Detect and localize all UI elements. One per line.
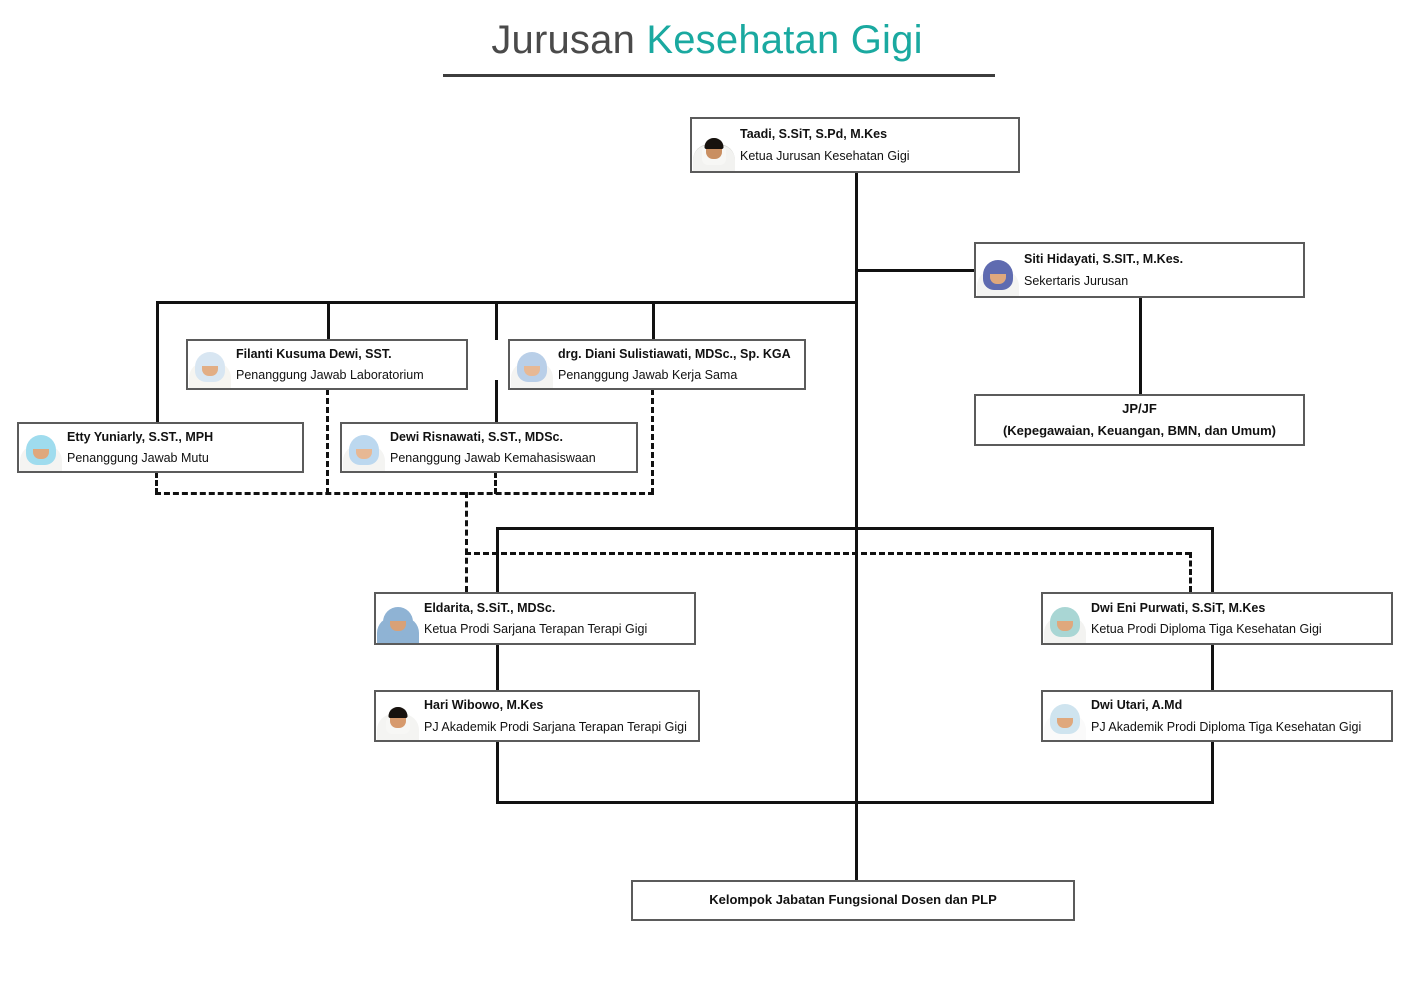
avatar: [376, 692, 420, 740]
dashed-pj-collection-bar: [155, 492, 654, 495]
connector-bar-to-pj-mutu: [156, 301, 159, 435]
node-name: Eldarita, S.SiT., MDSc.: [424, 599, 686, 617]
avatar: [342, 424, 386, 471]
connector-bottom-return-bar: [496, 801, 1214, 804]
dashed-pj-to-prodi: [465, 492, 468, 592]
node-text: drg. Diani Sulistiawati, MDSc., Sp. KGA …: [554, 345, 804, 384]
node-pj-laboratorium[interactable]: Filanti Kusuma Dewi, SST. Penanggung Jaw…: [186, 339, 468, 390]
node-name: Kelompok Jabatan Fungsional Dosen dan PL…: [633, 891, 1073, 910]
portrait-icon: [510, 341, 554, 388]
node-name: Etty Yuniarly, S.ST., MPH: [67, 428, 294, 446]
node-pj-akademik-diploma-tiga[interactable]: Dwi Utari, A.Md PJ Akademik Prodi Diplom…: [1041, 690, 1393, 742]
avatar: [692, 119, 736, 171]
portrait-icon: [342, 424, 386, 471]
node-role: Penanggung Jawab Mutu: [67, 449, 294, 467]
node-name: Dwi Eni Purwati, S.SiT, M.Kes: [1091, 599, 1383, 617]
connector-kaprodi-diploma-to-pj-akademik: [1211, 645, 1214, 690]
node-role: Ketua Jurusan Kesehatan Gigi: [740, 147, 1010, 165]
dashed-pj-mutu-down: [155, 472, 158, 494]
node-role: Ketua Prodi Sarjana Terapan Terapi Gigi: [424, 620, 686, 638]
portrait-icon: [976, 244, 1020, 296]
portrait-icon: [376, 594, 420, 643]
portrait-icon: [19, 424, 63, 471]
node-role: PJ Akademik Prodi Sarjana Terapan Terapi…: [424, 718, 690, 736]
connector-bar-to-pj-kerjasama: [652, 301, 655, 340]
node-text: Hari Wibowo, M.Kes PJ Akademik Prodi Sar…: [420, 696, 698, 735]
connector-bar-to-pj-laboratorium: [327, 301, 330, 340]
node-kaprodi-sarjana-terapan[interactable]: Eldarita, S.SiT., MDSc. Ketua Prodi Sarj…: [374, 592, 696, 645]
portrait-icon: [692, 119, 736, 171]
portrait-icon: [188, 341, 232, 388]
node-name: Dewi Risnawati, S.ST., MDSc.: [390, 428, 628, 446]
node-text: Dewi Risnawati, S.ST., MDSc. Penanggung …: [386, 428, 636, 467]
node-role: Penanggung Jawab Kemahasiswaan: [390, 449, 628, 467]
connector-sekertaris-to-jpjf: [1139, 298, 1142, 394]
connector-bar-to-kaprodi-diploma: [1211, 527, 1214, 592]
dashed-pj-laboratorium-down: [326, 389, 329, 494]
node-sekertaris-jurusan[interactable]: Siti Hidayati, S.SIT., M.Kes. Sekertaris…: [974, 242, 1305, 298]
node-kelompok-jabatan-fungsional[interactable]: Kelompok Jabatan Fungsional Dosen dan PL…: [631, 880, 1075, 921]
node-text: Dwi Utari, A.Md PJ Akademik Prodi Diplom…: [1087, 696, 1391, 735]
page-title: Jurusan Kesehatan Gigi: [0, 18, 1414, 63]
org-chart-canvas: Jurusan Kesehatan Gigi: [0, 0, 1414, 982]
portrait-icon: [376, 692, 420, 740]
node-role: (Kepegawaian, Keuangan, BMN, dan Umum): [976, 422, 1303, 441]
dashed-pj-kemahasiswaan-down: [494, 472, 497, 494]
node-text: Etty Yuniarly, S.ST., MPH Penanggung Jaw…: [63, 428, 302, 467]
node-pj-akademik-sarjana-terapan[interactable]: Hari Wibowo, M.Kes PJ Akademik Prodi Sar…: [374, 690, 700, 742]
connector-bar-to-pj-kerjasama-left: [495, 301, 498, 340]
node-name: Filanti Kusuma Dewi, SST.: [236, 345, 458, 363]
connector-to-sekertaris: [855, 269, 975, 272]
connector-pj-distribution-bar: [156, 301, 858, 304]
node-role: PJ Akademik Prodi Diploma Tiga Kesehatan…: [1091, 718, 1383, 736]
node-text: Eldarita, S.SiT., MDSc. Ketua Prodi Sarj…: [420, 599, 694, 638]
avatar: [1043, 594, 1087, 643]
node-text: JP/JF (Kepegawaian, Keuangan, BMN, dan U…: [976, 400, 1303, 441]
node-text: Siti Hidayati, S.SIT., M.Kes. Sekertaris…: [1020, 250, 1303, 289]
portrait-icon: [1043, 594, 1087, 643]
page-title-part1: Jurusan: [491, 18, 646, 62]
node-name: Taadi, S.SiT, S.Pd, M.Kes: [740, 125, 1010, 143]
node-ketua-jurusan[interactable]: Taadi, S.SiT, S.Pd, M.Kes Ketua Jurusan …: [690, 117, 1020, 173]
avatar: [976, 244, 1020, 296]
connector-bar-to-kaprodi-sarjana: [496, 527, 499, 592]
node-name: drg. Diani Sulistiawati, MDSc., Sp. KGA: [558, 345, 796, 363]
connector-pj-akademik-sarjana-down: [496, 742, 499, 804]
page-title-part2: Kesehatan Gigi: [646, 18, 922, 62]
node-name: Siti Hidayati, S.SIT., M.Kes.: [1024, 250, 1295, 268]
avatar: [19, 424, 63, 471]
dashed-to-kaprodi-diploma: [1189, 552, 1192, 592]
connector-prodi-distribution-bar: [496, 527, 1214, 530]
dashed-pj-kerjasama-down: [651, 389, 654, 494]
node-name: JP/JF: [976, 400, 1303, 419]
node-role: Penanggung Jawab Laboratorium: [236, 366, 458, 384]
avatar: [1043, 692, 1087, 740]
node-name: Dwi Utari, A.Md: [1091, 696, 1383, 714]
node-name: Hari Wibowo, M.Kes: [424, 696, 690, 714]
node-text: Dwi Eni Purwati, S.SiT, M.Kes Ketua Prod…: [1087, 599, 1391, 638]
title-underline: [443, 74, 995, 77]
node-text: Kelompok Jabatan Fungsional Dosen dan PL…: [633, 891, 1073, 910]
node-pj-mutu[interactable]: Etty Yuniarly, S.ST., MPH Penanggung Jaw…: [17, 422, 304, 473]
avatar: [376, 594, 420, 643]
connector-kaprodi-sarjana-to-pj-akademik: [496, 645, 499, 690]
node-jp-jf[interactable]: JP/JF (Kepegawaian, Keuangan, BMN, dan U…: [974, 394, 1305, 446]
node-kaprodi-diploma-tiga[interactable]: Dwi Eni Purwati, S.SiT, M.Kes Ketua Prod…: [1041, 592, 1393, 645]
portrait-icon: [1043, 692, 1087, 740]
avatar: [510, 341, 554, 388]
connector-pj-akademik-diploma-down: [1211, 742, 1214, 804]
node-role: Sekertaris Jurusan: [1024, 272, 1295, 290]
node-pj-kemahasiswaan[interactable]: Dewi Risnawati, S.ST., MDSc. Penanggung …: [340, 422, 638, 473]
avatar: [188, 341, 232, 388]
node-text: Filanti Kusuma Dewi, SST. Penanggung Jaw…: [232, 345, 466, 384]
node-role: Ketua Prodi Diploma Tiga Kesehatan Gigi: [1091, 620, 1383, 638]
node-pj-kerja-sama[interactable]: drg. Diani Sulistiawati, MDSc., Sp. KGA …: [508, 339, 806, 390]
dashed-prodi-cross-bar: [465, 552, 1191, 555]
node-role: Penanggung Jawab Kerja Sama: [558, 366, 796, 384]
node-text: Taadi, S.SiT, S.Pd, M.Kes Ketua Jurusan …: [736, 125, 1018, 164]
